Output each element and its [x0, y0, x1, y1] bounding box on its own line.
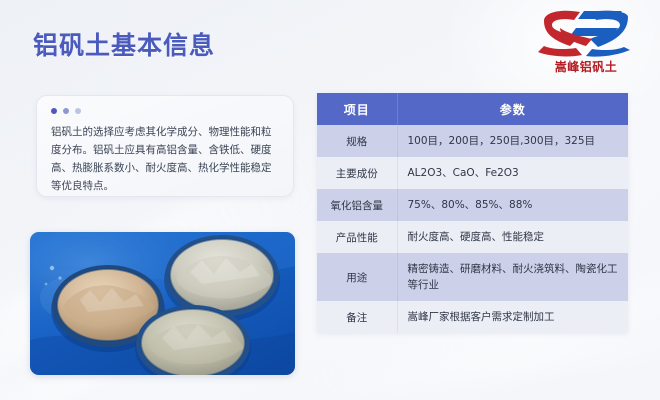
company-logo: 嵩峰铝矾土 — [530, 8, 642, 84]
row-label: 规格 — [317, 125, 397, 157]
row-value: 耐火度高、硬度高、性能稳定 — [397, 221, 628, 253]
row-value: 100目，200目，250目,300目，325目 — [397, 125, 628, 157]
table-row: 氧化铝含量 75%、80%、85%、88% — [317, 189, 628, 221]
table-row: 主要成份 AL2O3、CaO、Fe2O3 — [317, 157, 628, 189]
table-row: 用途 精密铸造、研磨材料、耐火浇筑料、陶瓷化工等行业 — [317, 253, 628, 301]
info-card: 铝矾土的选择应考虑其化学成分、物理性能和粒度分布。铝矾土应具有高铝含量、含铁低、… — [36, 95, 294, 197]
row-label: 氧化铝含量 — [317, 189, 397, 221]
dot-3-icon — [75, 108, 81, 114]
logo-wordmark: 嵩峰铝矾土 — [530, 58, 642, 75]
bauxite-powder-image — [30, 232, 295, 375]
table-row: 规格 100目，200目，250目,300目，325目 — [317, 125, 628, 157]
info-card-paragraph: 铝矾土的选择应考虑其化学成分、物理性能和粒度分布。铝矾土应具有高铝含量、含铁低、… — [51, 123, 279, 195]
card-dots — [51, 108, 279, 114]
row-label: 用途 — [317, 253, 397, 301]
table-header-param: 参数 — [397, 93, 628, 125]
row-value: AL2O3、CaO、Fe2O3 — [397, 157, 628, 189]
dot-1-icon — [51, 108, 57, 114]
sufeng-s-monogram-icon — [530, 8, 642, 60]
page-title: 铝矾土基本信息 — [33, 26, 215, 62]
product-photo — [30, 232, 295, 375]
row-label: 主要成份 — [317, 157, 397, 189]
dot-2-icon — [63, 108, 69, 114]
row-label: 备注 — [317, 301, 397, 333]
table-header-row: 项目 参数 — [317, 93, 628, 125]
specification-table: 项目 参数 规格 100目，200目，250目,300目，325目 主要成份 A… — [317, 93, 628, 333]
slide-canvas: 铝矾土基本信息 嵩峰铝矾土 铝矾土的选择应考虑其化学成分、物理性能和粒度分布。铝… — [0, 0, 660, 400]
row-value: 精密铸造、研磨材料、耐火浇筑料、陶瓷化工等行业 — [397, 253, 628, 301]
table-row: 备注 嵩峰厂家根据客户需求定制加工 — [317, 301, 628, 333]
row-label: 产品性能 — [317, 221, 397, 253]
table-header-item: 项目 — [317, 93, 397, 125]
row-value: 嵩峰厂家根据客户需求定制加工 — [397, 301, 628, 333]
table-row: 产品性能 耐火度高、硬度高、性能稳定 — [317, 221, 628, 253]
row-value: 75%、80%、85%、88% — [397, 189, 628, 221]
